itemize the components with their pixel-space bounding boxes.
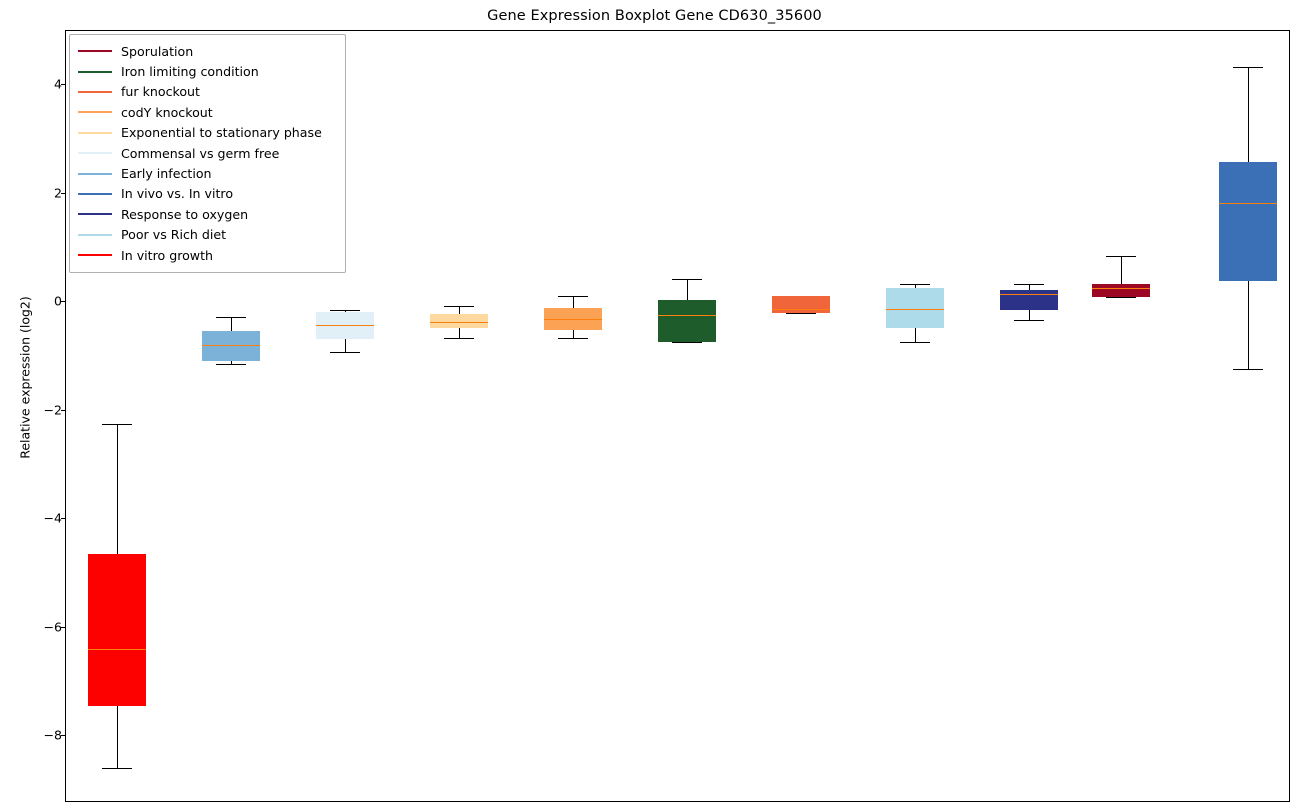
median-line (544, 319, 602, 320)
whisker-lower (915, 328, 916, 342)
cap-lower (900, 342, 930, 343)
whisker-lower (345, 339, 346, 352)
cap-upper (330, 310, 360, 311)
y-axis-label: Relative expression (log2) (18, 138, 33, 618)
legend-color-swatch (78, 132, 112, 134)
cap-lower (216, 364, 246, 365)
whisker-lower (1248, 281, 1249, 369)
y-tick-label: 0 (2, 294, 62, 309)
whisker-lower (117, 706, 118, 768)
legend-item[interactable]: In vivo vs. In vitro (78, 184, 337, 204)
cap-lower (786, 313, 816, 314)
legend-color-swatch (78, 193, 112, 195)
legend[interactable]: SporulationIron limiting conditionfur kn… (69, 34, 346, 273)
cap-lower (1014, 320, 1044, 321)
whisker-lower (1029, 310, 1030, 321)
cap-upper (558, 296, 588, 297)
cap-upper (672, 279, 702, 280)
legend-item-label: Exponential to stationary phase (121, 125, 322, 140)
legend-color-swatch (78, 111, 112, 113)
cap-lower (102, 768, 132, 769)
y-tick-label: −2 (2, 402, 62, 417)
median-line (1092, 288, 1150, 289)
whisker-upper (117, 424, 118, 554)
cap-upper (1233, 67, 1263, 68)
whisker-upper (1121, 256, 1122, 284)
legend-item[interactable]: Iron limiting condition (78, 61, 337, 81)
whisker-upper (1248, 67, 1249, 162)
median-line (430, 322, 488, 323)
whisker-upper (231, 317, 232, 331)
box-rect[interactable] (88, 554, 146, 706)
y-tick-label: −8 (2, 728, 62, 743)
whisker-upper (573, 296, 574, 308)
whisker-upper (459, 306, 460, 314)
legend-item[interactable]: Sporulation (78, 41, 337, 61)
box-rect[interactable] (1000, 290, 1058, 310)
legend-item[interactable]: fur knockout (78, 82, 337, 102)
legend-color-swatch (78, 173, 112, 175)
legend-color-swatch (78, 152, 112, 154)
legend-item-label: fur knockout (121, 84, 200, 99)
y-tick-label: 4 (2, 77, 62, 92)
median-line (202, 345, 260, 346)
box-rect[interactable] (202, 331, 260, 361)
median-line (886, 309, 944, 310)
legend-item-label: In vivo vs. In vitro (121, 186, 233, 201)
median-line (772, 309, 830, 310)
median-line (88, 649, 146, 650)
y-tick-label: 2 (2, 185, 62, 200)
whisker-lower (573, 330, 574, 338)
median-line (316, 325, 374, 326)
legend-color-swatch (78, 213, 112, 215)
cap-upper (900, 284, 930, 285)
legend-item-label: Iron limiting condition (121, 64, 259, 79)
legend-item[interactable]: Commensal vs germ free (78, 143, 337, 163)
legend-item[interactable]: In vitro growth (78, 245, 337, 265)
box-rect[interactable] (1092, 284, 1150, 297)
figure-canvas: Gene Expression Boxplot Gene CD630_35600… (0, 0, 1309, 812)
cap-upper (102, 424, 132, 425)
median-line (1000, 294, 1058, 295)
legend-item[interactable]: Response to oxygen (78, 204, 337, 224)
cap-lower (558, 338, 588, 339)
cap-upper (1106, 256, 1136, 257)
legend-item[interactable]: Exponential to stationary phase (78, 123, 337, 143)
cap-lower (1233, 369, 1263, 370)
legend-color-swatch (78, 50, 112, 52)
legend-color-swatch (78, 91, 112, 93)
legend-item[interactable]: Poor vs Rich diet (78, 225, 337, 245)
cap-lower (444, 338, 474, 339)
whisker-lower (459, 328, 460, 338)
legend-item-label: codY knockout (121, 105, 213, 120)
legend-item[interactable]: codY knockout (78, 102, 337, 122)
legend-item-label: Response to oxygen (121, 207, 248, 222)
cap-upper (1014, 284, 1044, 285)
legend-item-label: Commensal vs germ free (121, 146, 279, 161)
legend-item-label: Sporulation (121, 44, 193, 59)
y-tick-label: −4 (2, 511, 62, 526)
legend-color-swatch (78, 254, 112, 256)
cap-lower (672, 342, 702, 343)
box-rect[interactable] (772, 296, 830, 313)
cap-upper (444, 306, 474, 307)
legend-item-label: Early infection (121, 166, 212, 181)
legend-item[interactable]: Early infection (78, 163, 337, 183)
median-line (658, 315, 716, 316)
chart-title: Gene Expression Boxplot Gene CD630_35600 (0, 8, 1309, 24)
legend-item-label: Poor vs Rich diet (121, 227, 226, 242)
cap-lower (330, 352, 360, 353)
legend-color-swatch (78, 234, 112, 236)
legend-color-swatch (78, 71, 112, 73)
y-tick-label: −6 (2, 619, 62, 634)
whisker-upper (687, 279, 688, 300)
median-line (1219, 203, 1277, 204)
box-rect[interactable] (1219, 162, 1277, 281)
cap-upper (216, 317, 246, 318)
cap-lower (1106, 297, 1136, 298)
legend-item-label: In vitro growth (121, 248, 213, 263)
box-rect[interactable] (658, 300, 716, 342)
